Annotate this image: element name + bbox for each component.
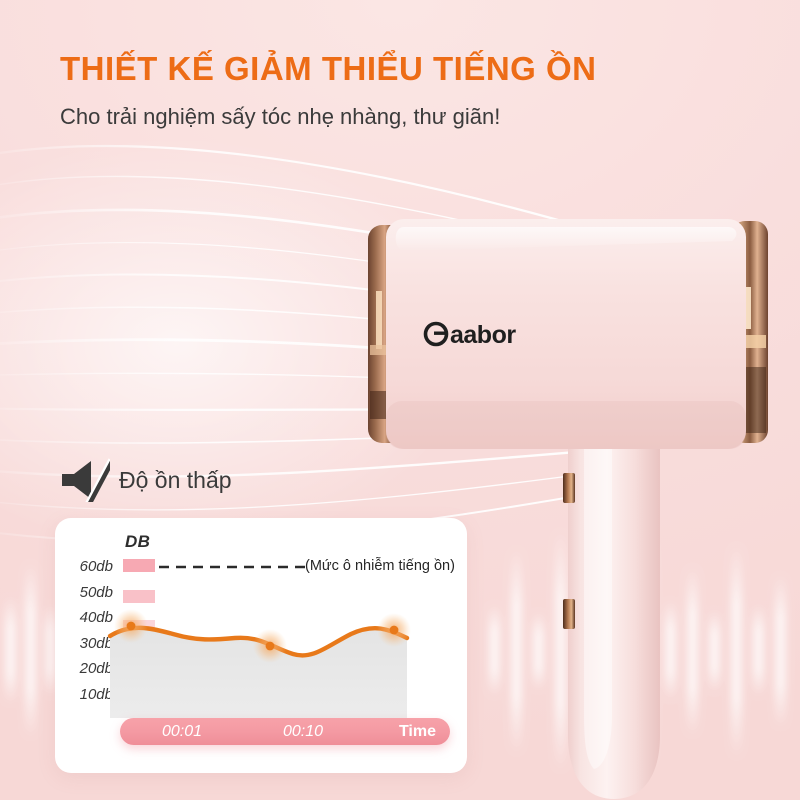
muted-speaker-icon bbox=[58, 458, 110, 502]
chart-time-axis: 00:01 00:10 Time bbox=[120, 718, 450, 745]
page-subtitle: Cho trải nghiệm sấy tóc nhẹ nhàng, thư g… bbox=[60, 104, 750, 130]
svg-text:aabor: aabor bbox=[450, 321, 516, 349]
x-tick-00-10: 00:10 bbox=[283, 718, 323, 745]
data-point-marker-2 bbox=[253, 629, 287, 663]
page-title: THIẾT KẾ GIẢM THIỂU TIẾNG ỒN bbox=[60, 50, 750, 88]
noise-chart-card: DB 60db 50db 40db 30db 20db 10db bbox=[55, 518, 467, 773]
data-point-marker-3 bbox=[377, 613, 411, 647]
low-noise-badge: Độ ồn thấp bbox=[58, 458, 232, 502]
x-axis-label: Time bbox=[399, 718, 436, 745]
low-noise-label: Độ ồn thấp bbox=[119, 469, 232, 492]
noise-threshold-annotation: (Mức ô nhiễm tiếng ồn) bbox=[305, 558, 455, 574]
data-point-marker-1 bbox=[114, 609, 148, 643]
promo-page: THIẾT KẾ GIẢM THIỂU TIẾNG ỒN Cho trải ng… bbox=[0, 0, 800, 800]
x-tick-00-01: 00:01 bbox=[162, 718, 202, 745]
